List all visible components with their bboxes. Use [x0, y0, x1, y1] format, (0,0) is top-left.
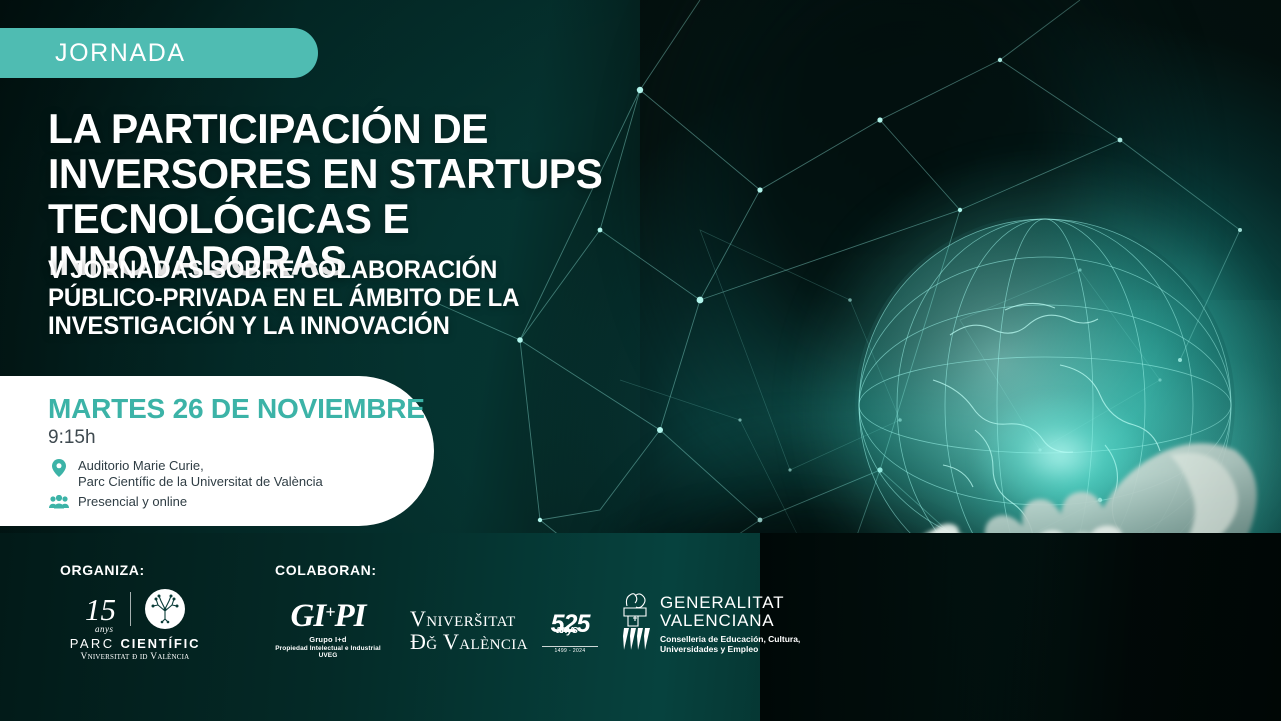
colaboran-label: COLABORAN: — [275, 562, 377, 578]
parc-name-2: CIENTÍFIC — [121, 636, 201, 651]
subtitle-line-3: INVESTIGACIÓN Y LA INNOVACIÓN — [48, 312, 586, 340]
event-modality-text: Presencial y online — [78, 494, 187, 510]
uv-line-2: Đǧ València — [410, 631, 540, 653]
parc-name: PARC CIENTÍFIC — [50, 636, 220, 651]
event-location-text: Auditorio Marie Curie, Parc Científic de… — [78, 458, 323, 490]
event-date: MARTES 26 DE NOVIEMBRE — [48, 393, 425, 425]
parc-anniversary-number: 15 — [85, 592, 116, 627]
anniv-number: 525anys — [542, 612, 598, 637]
location-line-1: Auditorio Marie Curie, — [78, 458, 204, 473]
title-line-2: INVERSORES EN STARTUPS — [48, 153, 649, 195]
people-group-icon — [48, 494, 70, 509]
title-line-1: LA PARTICIPACIÓN DE — [48, 108, 649, 150]
parc-anniversary: 15 anys — [85, 594, 116, 625]
gipi-line-1: Grupo I+d — [268, 635, 388, 644]
event-location-row: Auditorio Marie Curie, Parc Científic de… — [48, 458, 323, 490]
footer-right-fade — [760, 533, 1281, 721]
logo-generalitat-valenciana: GENERALITAT VALENCIANA Conselleria de Ed… — [618, 590, 818, 654]
map-pin-icon — [48, 458, 70, 477]
gipi-line-2: Propiedad Intelectual e Industrial UVEG — [268, 645, 388, 659]
page-subtitle: V JORNADAS SOBRE COLABORACIÓN PÚBLICO-PR… — [48, 256, 608, 340]
anniv-525-word: anys — [556, 625, 577, 636]
organiza-label: ORGANIZA: — [60, 562, 145, 578]
gipi-wordmark: GI+PI — [268, 600, 388, 633]
event-modality-row: Presencial y online — [48, 494, 187, 510]
parc-name-1: PARC — [70, 636, 121, 651]
gva-line-1: GENERALITAT — [660, 594, 800, 612]
tree-circle-icon — [145, 589, 185, 629]
gva-line-3: Conselleria de Educación, Cultura, — [660, 634, 800, 644]
gva-line-2: VALENCIANA — [660, 612, 800, 630]
gva-conselleria: Conselleria de Educación, Cultura, Unive… — [660, 634, 800, 655]
subtitle-line-2: PÚBLICO-PRIVADA EN EL ÁMBITO DE LA — [48, 284, 586, 312]
gva-line-4: Universidades y Empleo — [660, 644, 758, 654]
subtitle-line-1: V JORNADAS SOBRE COLABORACIÓN — [48, 256, 586, 284]
logo-525-anys: 525anys 1499 - 2024 — [542, 612, 598, 654]
logo-universitat-valencia: Vniveršitat Đǧ València — [410, 608, 540, 653]
parc-university: Vniversitat ð id València — [50, 652, 220, 662]
uv-line-1: Vniveršitat — [410, 608, 540, 630]
gipi-mark-left: GI — [291, 598, 326, 634]
jornada-badge: JORNADA — [0, 28, 318, 78]
gipi-mark-right: PI — [334, 598, 365, 634]
generalitat-shield-icon — [618, 590, 652, 652]
event-poster: JORNADA LA PARTICIPACIÓN DE INVERSORES E… — [0, 0, 1281, 721]
logo-gipi: GI+PI Grupo I+d Propiedad Intelectual e … — [268, 600, 388, 656]
event-info-panel: MARTES 26 DE NOVIEMBRE 9:15h Auditorio M… — [0, 376, 434, 526]
anniv-525-years: 1499 - 2024 — [542, 646, 598, 654]
logo-parc-cientific: 15 anys PARC CI — [50, 588, 220, 660]
event-time: 9:15h — [48, 427, 96, 449]
parc-anniversary-word: anys — [95, 625, 114, 634]
badge-label: JORNADA — [55, 39, 186, 68]
logo-divider — [130, 592, 131, 626]
location-line-2: Parc Científic de la Universitat de Valè… — [78, 474, 323, 489]
